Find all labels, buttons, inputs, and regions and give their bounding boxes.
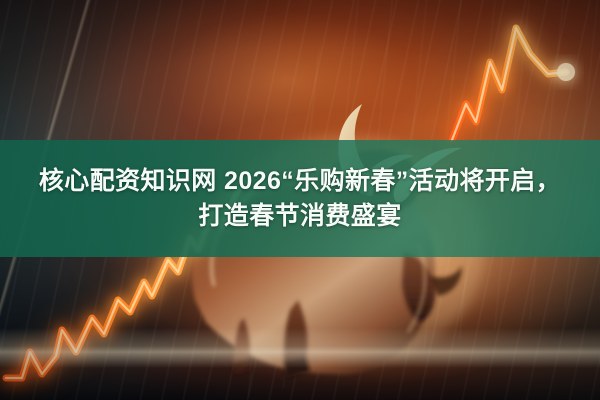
headline-block: 核心配资知识网 2026“乐购新春”活动将开启， 打造春节消费盛宴	[0, 140, 600, 257]
headline-line-2: 打造春节消费盛宴	[198, 202, 401, 230]
headline-line-1: 核心配资知识网 2026“乐购新春”活动将开启，	[39, 167, 561, 195]
banner-image: 核心配资知识网 2026“乐购新春”活动将开启， 打造春节消费盛宴	[0, 0, 600, 400]
